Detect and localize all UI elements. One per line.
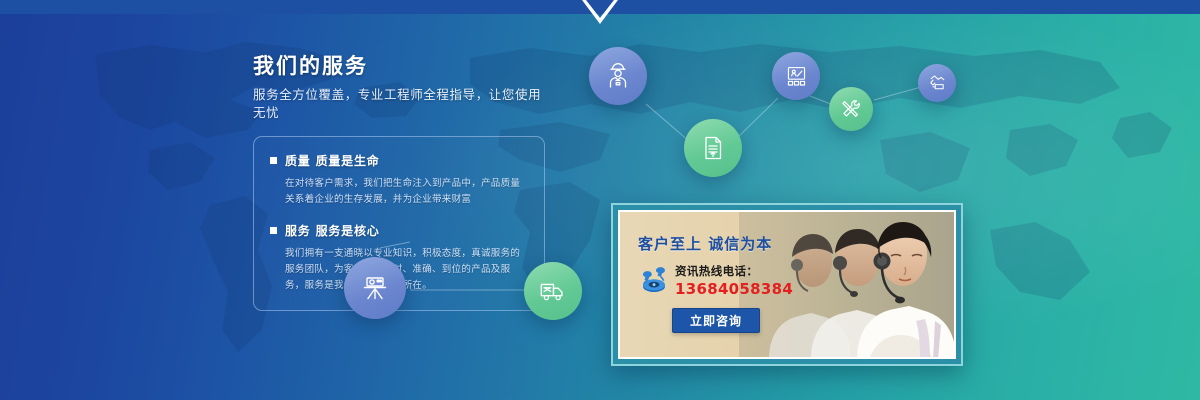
service-text-column: 我们的服务 服务全方位覆盖，专业工程师全程指导，让您使用无忧 质量 质量是生命 …	[253, 52, 553, 311]
page-title: 我们的服务	[253, 52, 553, 80]
card-copy-block: 客户至上 诚信为本 资讯热线电话： 136840583	[638, 234, 823, 333]
hotline-text: 资讯热线电话： 13684058384	[675, 263, 793, 297]
consultation-card: 客户至上 诚信为本 资讯热线电话： 136840583	[611, 203, 963, 366]
node-tools[interactable]	[829, 87, 873, 131]
node-handshake[interactable]	[918, 64, 956, 102]
delivery-truck-icon	[538, 276, 568, 306]
page-subtitle: 服务全方位覆盖，专业工程师全程指导，让您使用无忧	[253, 86, 553, 122]
node-engineer[interactable]	[589, 47, 647, 105]
bullet-square-icon	[270, 157, 277, 164]
node-delivery[interactable]	[524, 262, 582, 320]
consultation-card-inner: 客户至上 诚信为本 资讯热线电话： 136840583	[618, 210, 956, 359]
tools-wrench-hammer-icon	[839, 97, 863, 121]
consult-now-button[interactable]: 立即咨询	[672, 308, 760, 333]
bullet-square-icon	[270, 227, 277, 234]
highlight-heading-row: 服务 服务是核心	[270, 222, 528, 239]
survey-tripod-icon	[359, 272, 391, 304]
node-survey[interactable]	[344, 257, 406, 319]
hotline-number: 13684058384	[675, 281, 793, 297]
engineer-icon	[603, 61, 633, 91]
highlight-heading: 服务 服务是核心	[285, 222, 380, 239]
service-hero-section: 我们的服务 服务全方位覆盖，专业工程师全程指导，让您使用无忧 质量 质量是生命 …	[0, 0, 1200, 400]
highlight-heading: 质量 质量是生命	[285, 152, 380, 169]
hotline-row: 资讯热线电话： 13684058384	[638, 263, 823, 297]
document-upload-icon	[699, 134, 727, 162]
telephone-icon	[638, 266, 669, 294]
handshake-icon	[927, 73, 948, 94]
hotline-label: 资讯热线电话：	[675, 263, 793, 279]
training-board-icon	[784, 64, 809, 89]
highlight-block-quality: 质量 质量是生命 在对待客户需求，我们把生命注入到产品中，产品质量关系着企业的生…	[270, 152, 528, 208]
card-headline: 客户至上 诚信为本	[638, 234, 823, 254]
highlight-body: 在对待客户需求，我们把生命注入到产品中，产品质量关系着企业的生存发展，并为企业带…	[270, 176, 528, 208]
highlight-heading-row: 质量 质量是生命	[270, 152, 528, 169]
node-document[interactable]	[684, 119, 742, 177]
node-training[interactable]	[772, 52, 820, 100]
